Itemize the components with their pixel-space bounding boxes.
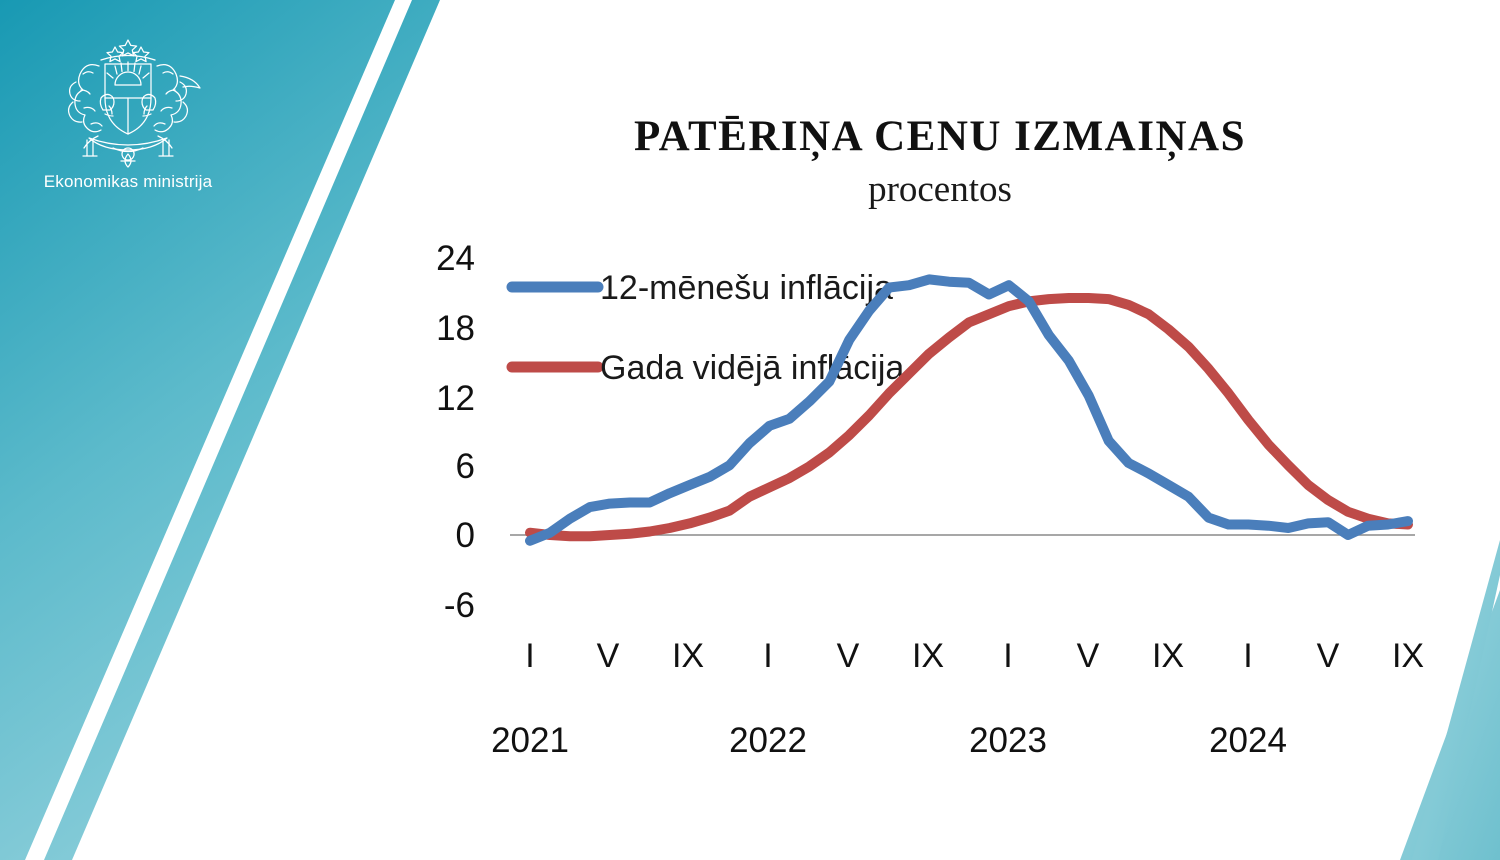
- x-tick-label: I: [1003, 637, 1012, 675]
- x-tick-label: IX: [672, 637, 704, 675]
- year-label: 2022: [729, 721, 807, 760]
- y-tick-label: -6: [444, 586, 475, 625]
- year-label: 2024: [1209, 721, 1287, 760]
- slide-canvas: Ekonomikas ministrija PATĒRIŅA CENU IZMA…: [0, 0, 1500, 860]
- chart-title: PATĒRIŅA CENU IZMAIŅAS: [560, 112, 1320, 161]
- x-tick-label: V: [1077, 637, 1100, 675]
- x-axis-year-labels: 2021 2022 2023 2024: [491, 721, 1287, 760]
- coat-of-arms-icon: [43, 30, 213, 170]
- x-tick-label: V: [597, 637, 620, 675]
- year-label: 2023: [969, 721, 1047, 760]
- x-tick-label: I: [525, 637, 534, 675]
- year-label: 2021: [491, 721, 569, 760]
- x-tick-label: IX: [912, 637, 944, 675]
- chart-subtitle: procentos: [560, 168, 1320, 211]
- y-tick-label: 24: [436, 239, 475, 278]
- x-tick-label: V: [837, 637, 860, 675]
- x-tick-label: V: [1317, 637, 1340, 675]
- y-tick-label: 6: [456, 447, 475, 486]
- legend-label-blue: 12-mēnešu inflācija: [600, 269, 893, 307]
- x-tick-label: I: [1243, 637, 1252, 675]
- organization-name: Ekonomikas ministrija: [18, 172, 238, 192]
- y-tick-label: 12: [436, 379, 475, 418]
- x-tick-label: IX: [1152, 637, 1184, 675]
- x-tick-label: IX: [1392, 637, 1424, 675]
- organization-logo: Ekonomikas ministrija: [18, 30, 238, 192]
- y-tick-label: 18: [436, 309, 475, 348]
- legend-label-red: Gada vidējā inflācija: [600, 349, 904, 387]
- x-axis-labels: I V IX I V IX I V IX I V IX: [525, 637, 1424, 675]
- x-tick-label: I: [763, 637, 772, 675]
- y-tick-label: 0: [456, 516, 475, 555]
- chart-legend: 12-mēnešu inflācija Gada vidējā inflācij…: [512, 269, 904, 387]
- line-chart: 24 18 12 6 0 -6 12-mēnešu inflācija Gada…: [400, 225, 1480, 785]
- y-axis-labels: 24 18 12 6 0 -6: [436, 239, 475, 625]
